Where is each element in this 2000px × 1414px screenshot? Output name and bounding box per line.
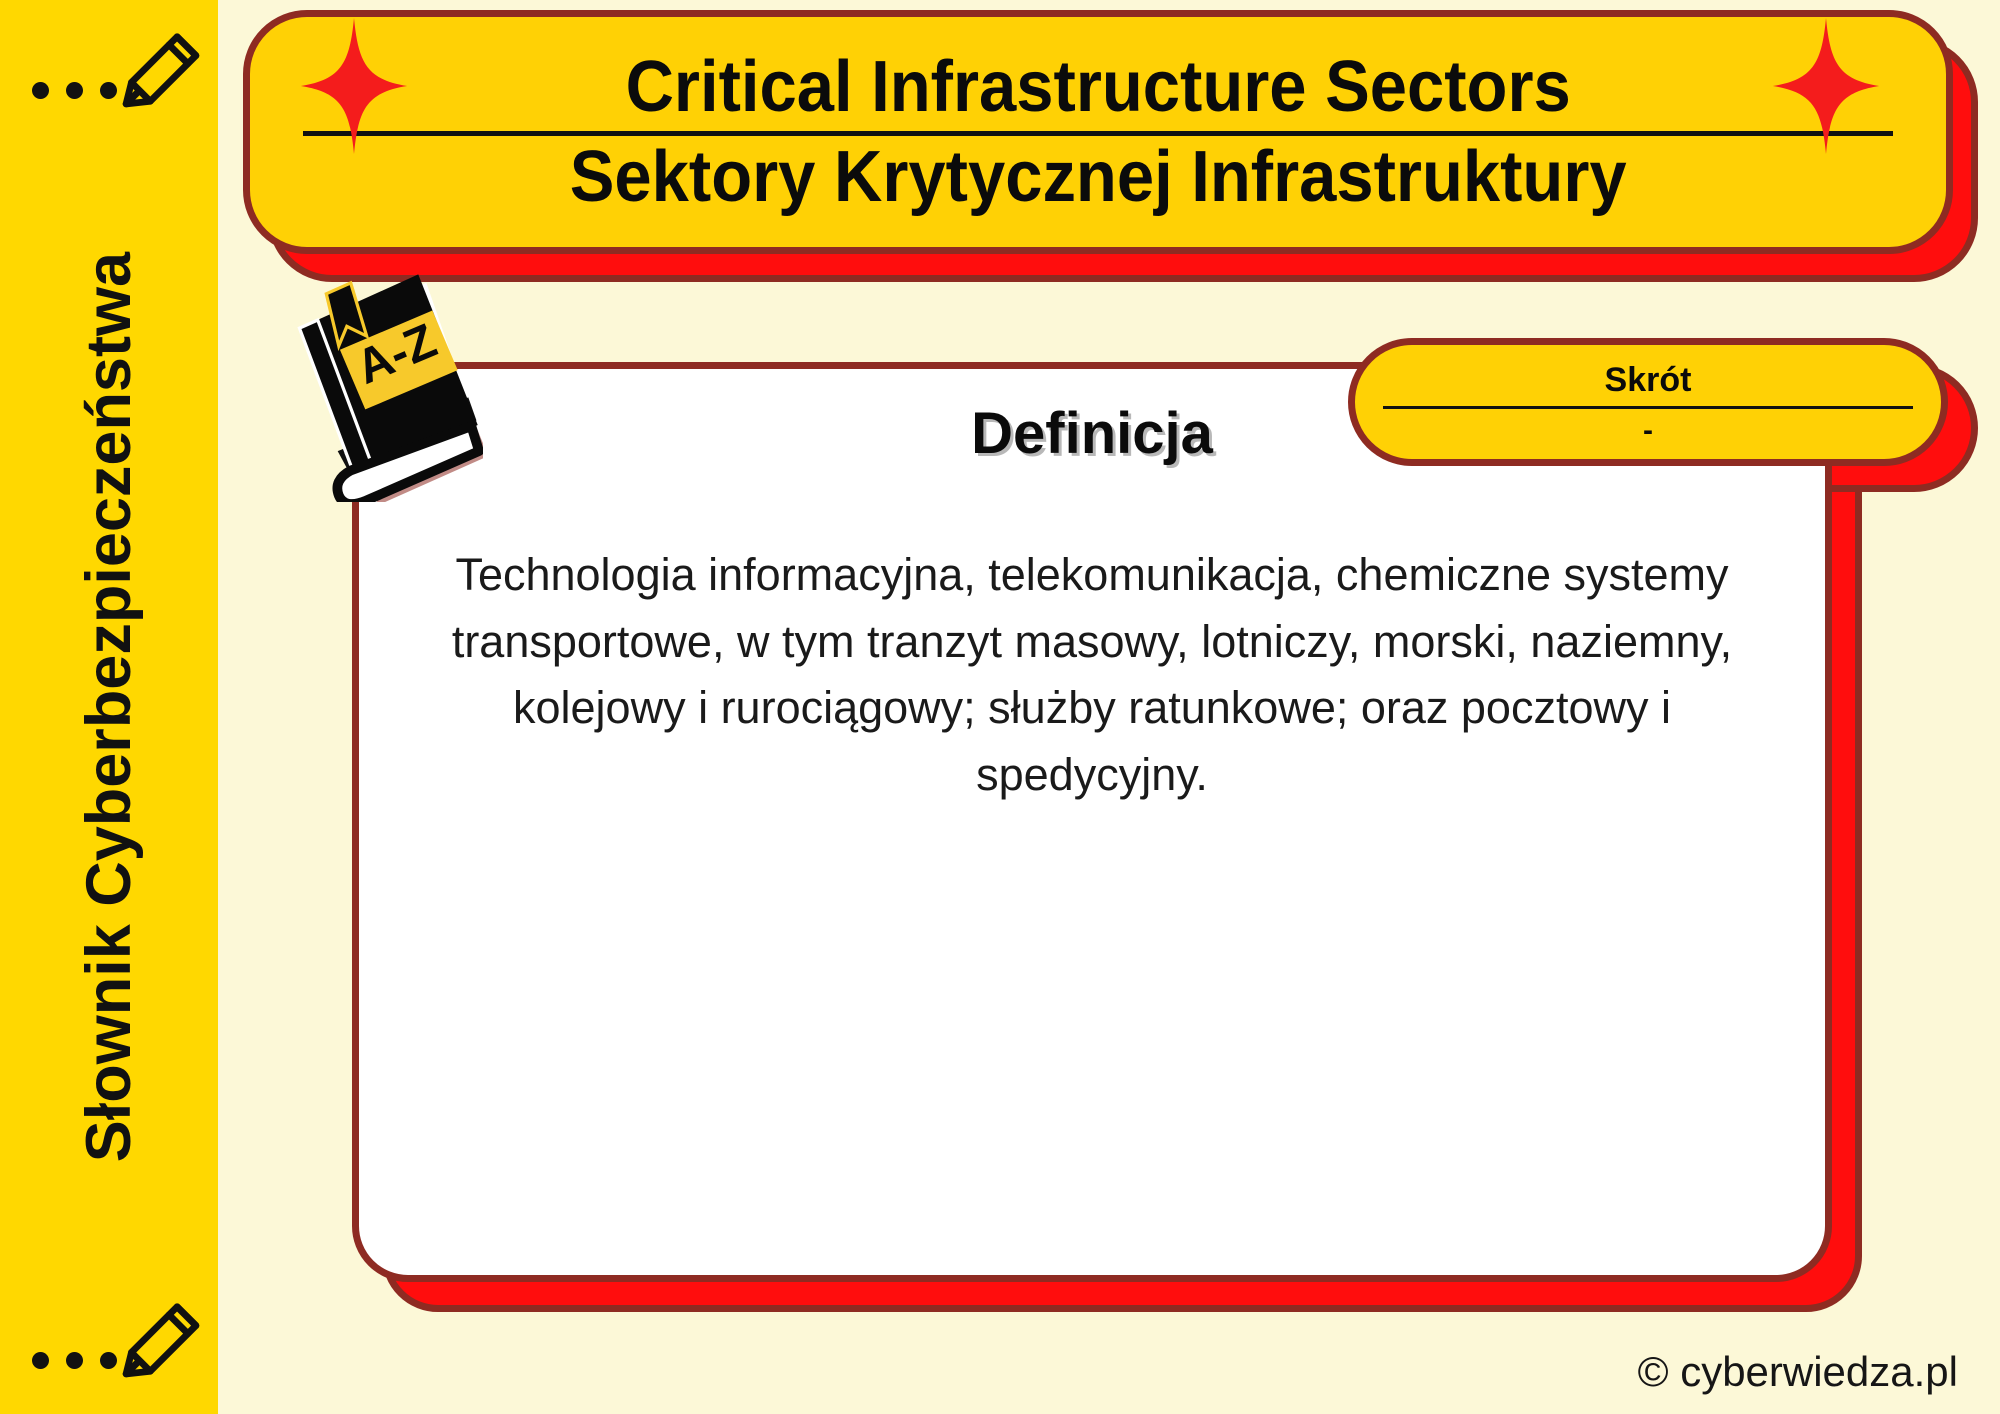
flashcard-root: Słownik Cyberbezpieczeństwa <box>0 0 2000 1414</box>
three-dots-icon-bottom <box>32 1352 117 1369</box>
sparkle-star-icon-right <box>1772 18 1880 154</box>
az-dictionary-book-icon: A-Z <box>288 272 483 502</box>
pencil-icon-bottom <box>118 1296 204 1387</box>
left-sidebar: Słownik Cyberbezpieczeństwa <box>0 0 218 1414</box>
definition-panel <box>352 362 1832 1282</box>
sparkle-star-icon-left <box>300 18 408 154</box>
abbreviation-label: Skrót <box>1605 363 1692 397</box>
sidebar-vertical-title-wrap: Słownik Cyberbezpieczeństwa <box>0 0 218 1414</box>
header-divider <box>303 131 1893 136</box>
abbreviation-divider <box>1383 406 1913 409</box>
definition-body-text: Technologia informacyjna, telekomunikacj… <box>392 542 1792 808</box>
sidebar-vertical-title: Słownik Cyberbezpieczeństwa <box>73 252 145 1162</box>
header-banner: Critical Infrastructure Sectors Sektory … <box>243 10 1953 254</box>
header-title-pl: Sektory Krytycznej Infrastruktury <box>570 140 1627 215</box>
sidebar-decoration-bottom <box>30 1290 190 1400</box>
footer-copyright: © cyberwiedza.pl <box>1638 1348 1958 1396</box>
abbreviation-pill: Skrót - <box>1348 338 1948 466</box>
abbreviation-value: - <box>1643 416 1653 446</box>
header-title-en: Critical Infrastructure Sectors <box>625 50 1570 125</box>
